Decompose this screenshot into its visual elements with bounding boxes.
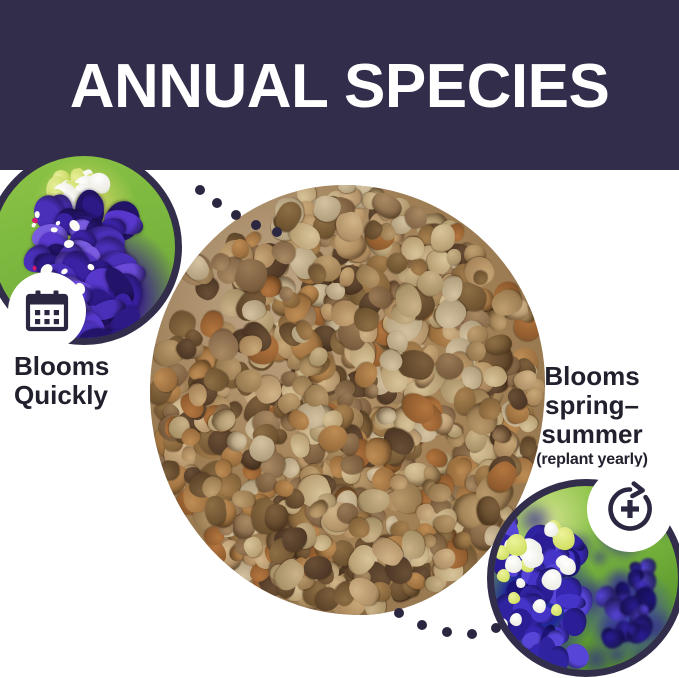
right-feature-caption: Blooms spring– summer (replant yearly) [505, 362, 679, 469]
right-caption-line1: Blooms [505, 362, 679, 391]
right-caption-line3: summer [505, 420, 679, 449]
calendar-icon [23, 287, 71, 335]
seed [447, 248, 462, 264]
seed [366, 438, 391, 466]
seed [427, 484, 451, 502]
seed [357, 488, 390, 513]
seed [331, 300, 357, 327]
flower-bud [551, 604, 562, 616]
right-caption-line2: spring– [505, 391, 679, 420]
header-banner: ANNUAL SPECIES [0, 0, 679, 170]
flower-bud [506, 534, 527, 556]
seed [402, 531, 425, 559]
seed-pile-mound [150, 185, 545, 615]
connector-dot [251, 220, 261, 230]
connector-dot [417, 620, 427, 630]
flower-bud [505, 555, 522, 573]
product-feature-infographic: ANNUAL SPECIES Blooms Quickly [0, 0, 679, 678]
calendar-badge [8, 272, 86, 350]
replant-refresh-icon [601, 480, 659, 538]
replant-badge [587, 466, 673, 552]
seed-pile-image [150, 185, 545, 615]
connector-dot [231, 210, 241, 220]
seed [188, 382, 207, 407]
connector-dot [491, 623, 501, 633]
seed [390, 475, 409, 490]
connector-dot [212, 198, 222, 208]
seed [304, 555, 333, 579]
connector-dot [195, 185, 205, 195]
connector-dot [442, 627, 452, 637]
petal-highlight [50, 227, 57, 233]
page-title: ANNUAL SPECIES [0, 0, 679, 170]
connector-dot [272, 227, 282, 237]
left-feature-caption: Blooms Quickly [0, 352, 176, 410]
connector-dot [394, 608, 404, 618]
connector-dot [467, 629, 477, 639]
left-caption-line2: Quickly [14, 381, 176, 410]
left-caption-line1: Blooms [14, 352, 176, 381]
background-bloom [627, 643, 664, 676]
right-subcaption: (replant yearly) [505, 451, 679, 469]
